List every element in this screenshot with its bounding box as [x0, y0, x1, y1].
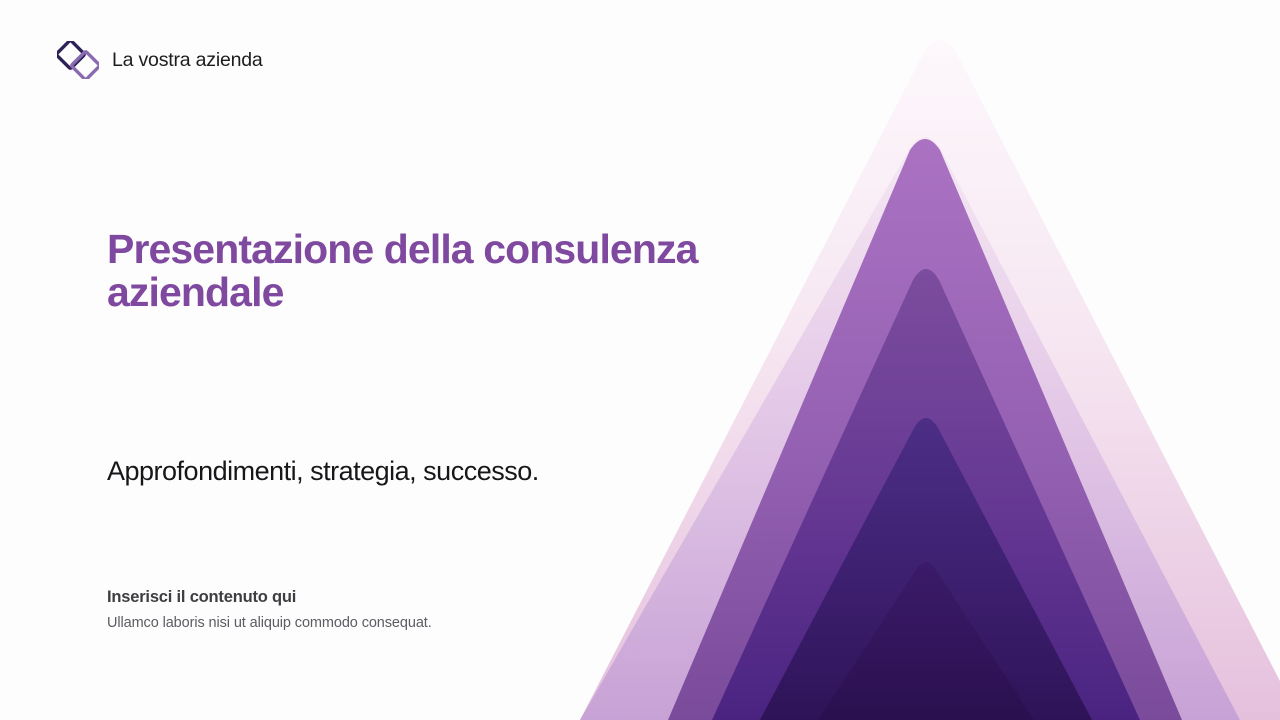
- footnote-title: Inserisci il contenuto qui: [107, 588, 667, 607]
- footnote-body: Ullamco laboris nisi ut aliquip commodo …: [107, 615, 667, 631]
- mountain-layer-6: [818, 562, 1034, 720]
- double-diamond-logo-icon: [57, 41, 99, 79]
- brand-lockup: La vostra azienda: [57, 41, 263, 79]
- presentation-slide: La vostra azienda Presentazione della co…: [0, 0, 1280, 720]
- slide-title: Presentazione della consulenza aziendale: [107, 228, 787, 314]
- slide-subtitle: Approfondimenti, strategia, successo.: [107, 455, 727, 487]
- brand-name: La vostra azienda: [112, 49, 263, 72]
- mountain-layer-5: [760, 418, 1092, 720]
- slide-content: Presentazione della consulenza aziendale…: [107, 0, 807, 720]
- footnote-block: Inserisci il contenuto qui Ullamco labor…: [107, 588, 667, 631]
